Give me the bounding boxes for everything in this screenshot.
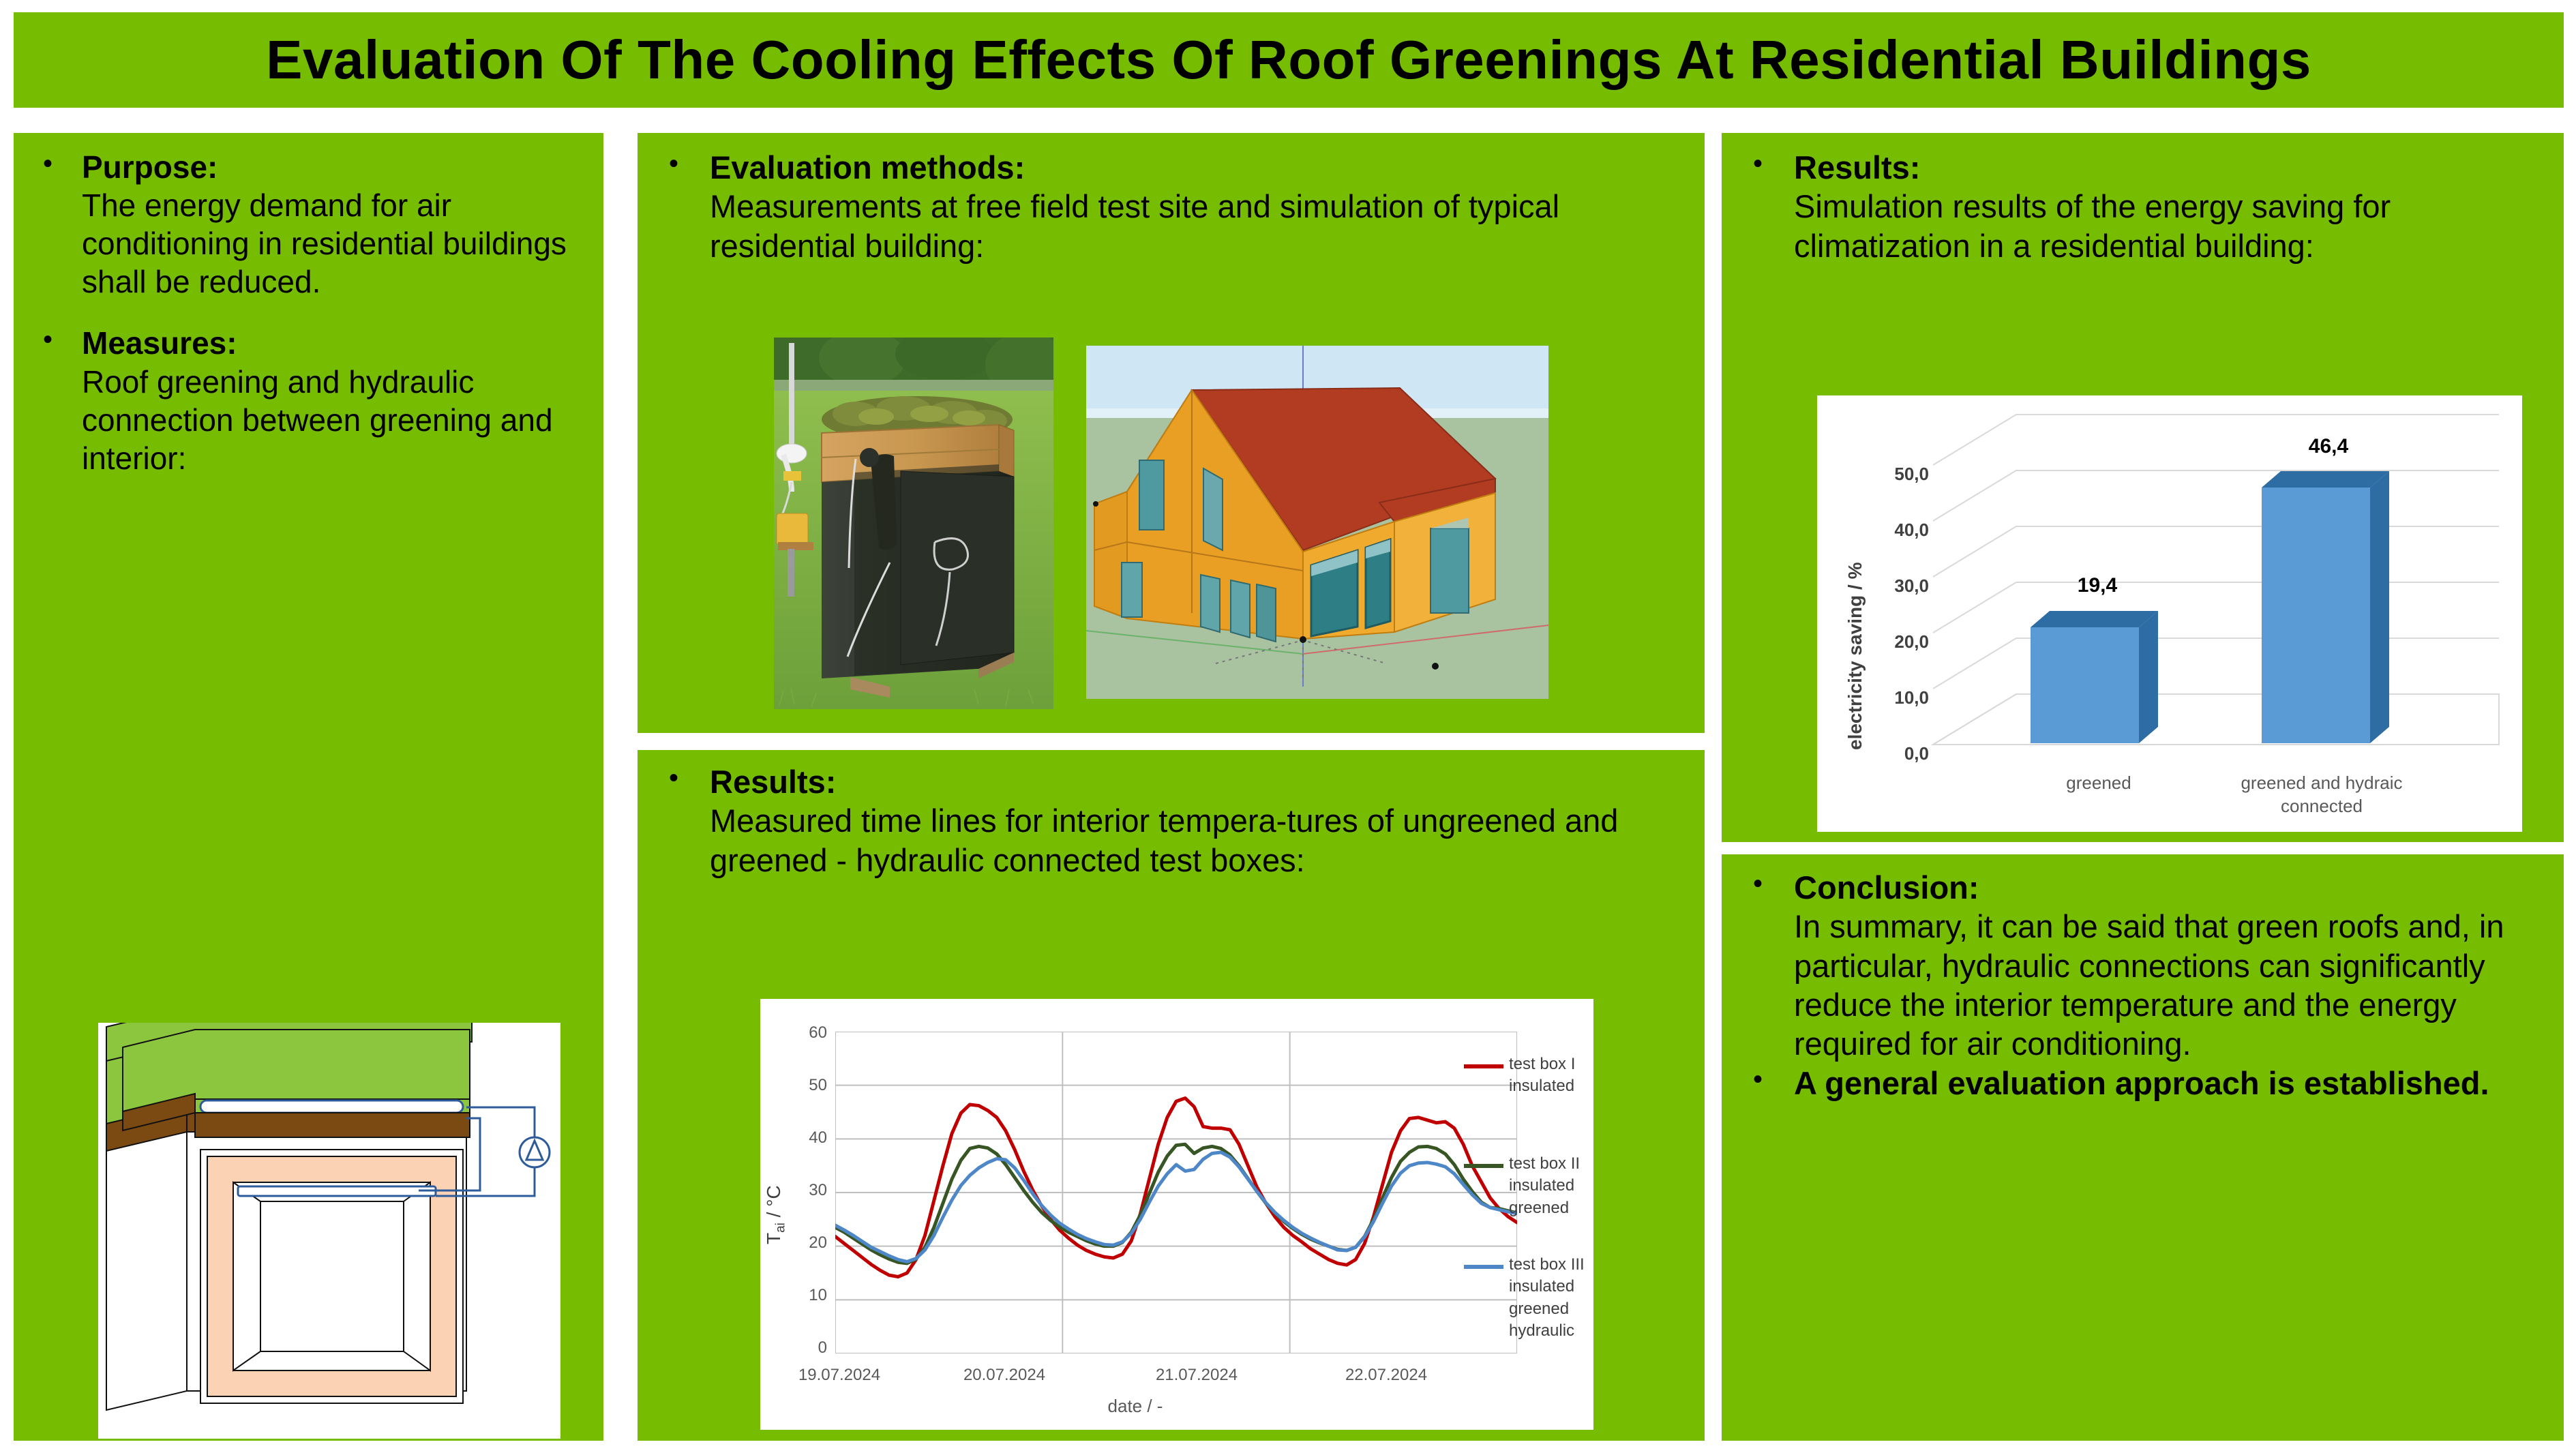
results-simulation-heading: Results:	[1794, 148, 2564, 187]
line-chart-xtick: 20.07.2024	[950, 1366, 1059, 1385]
evaluation-methods-heading: Evaluation methods:	[710, 148, 1705, 187]
electricity-saving-bar-chart: electricity saving / % 50,0	[1817, 395, 2522, 832]
poster-title-banner: Evaluation Of The Cooling Effects Of Roo…	[14, 12, 2564, 108]
bullet-results-measured: • Results: Measured time lines for inter…	[638, 762, 1705, 880]
line-chart-plot-area	[835, 1032, 1517, 1353]
middle-bottom-panel: • Results: Measured time lines for inter…	[638, 750, 1705, 1441]
roof-diagram-frame	[98, 1023, 560, 1439]
legend-swatch-series-2	[1464, 1164, 1503, 1168]
bullet-measures: • Measures: Roof greening and hydraulic …	[14, 324, 603, 477]
measures-text: Roof greening and hydraulic connection b…	[82, 363, 603, 477]
right-conclusion-panel: • Conclusion: In summary, it can be said…	[1722, 854, 2564, 1441]
bar-chart-ytick: 20,0	[1868, 631, 1929, 653]
results-measured-text: Measured time lines for interior tempera…	[710, 801, 1705, 880]
conclusion-text: In summary, it can be said that green ro…	[1794, 907, 2564, 1063]
bar-chart-ytick: 50,0	[1868, 464, 1929, 485]
middle-top-panel: • Evaluation methods: Measurements at fr…	[638, 133, 1705, 733]
bar-chart-ytick: 40,0	[1868, 520, 1929, 541]
bullet-dot-icon: •	[1722, 1064, 1794, 1096]
line-chart-ytick: 50	[793, 1076, 827, 1095]
line-chart-xtick: 19.07.2024	[785, 1366, 894, 1385]
legend-label-series-2: test box II insulated greened	[1509, 1153, 1580, 1219]
legend-swatch-series-1	[1464, 1064, 1503, 1068]
line-chart-ytick: 0	[793, 1338, 827, 1358]
bar-category-label-greened-hydraic: greened and hydraic connected	[2216, 772, 2427, 818]
line-chart-y-axis-title: Tai / °C	[763, 1185, 789, 1244]
bar-category-label-greened: greened	[2000, 772, 2198, 795]
line-chart-ytick: 60	[793, 1023, 827, 1043]
bullet-dot-icon: •	[638, 148, 710, 180]
left-column-panel: • Purpose: The energy demand for air con…	[14, 133, 603, 1441]
legend-label-series-1: test box I insulated	[1509, 1053, 1575, 1098]
bullet-dot-icon: •	[1722, 868, 1794, 900]
green-roof-section-diagram	[98, 1023, 560, 1439]
page-title: Evaluation Of The Cooling Effects Of Roo…	[266, 29, 2311, 91]
bar-chart-ytick: 10,0	[1868, 687, 1929, 708]
line-chart-xtick: 21.07.2024	[1142, 1366, 1251, 1385]
evaluation-methods-bullets: • Evaluation methods: Measurements at fr…	[638, 148, 1705, 265]
bullet-purpose: • Purpose: The energy demand for air con…	[14, 148, 603, 301]
temperature-line-chart: 60 50 40 30 20 10 0 Tai / °C 19.07.2024 …	[760, 999, 1593, 1430]
evaluation-methods-text: Measurements at free field test site and…	[710, 187, 1705, 265]
general-approach-heading: A general evaluation approach is establi…	[1794, 1064, 2564, 1103]
line-chart-ytick: 30	[793, 1181, 827, 1200]
free-field-test-box-photo	[774, 338, 1053, 709]
line-chart-ytick: 20	[793, 1233, 827, 1253]
results-simulation-bullets: • Results: Simulation results of the ene…	[1722, 148, 2564, 265]
right-results-panel: • Results: Simulation results of the ene…	[1722, 133, 2564, 842]
purpose-text: The energy demand for air conditioning i…	[82, 186, 603, 301]
conclusion-heading: Conclusion:	[1794, 868, 2564, 907]
bullet-spacer	[14, 301, 603, 324]
results-simulation-text: Simulation results of the energy saving …	[1794, 187, 2564, 265]
line-chart-x-axis-title: date / -	[1033, 1396, 1238, 1417]
results-measured-heading: Results:	[710, 762, 1705, 801]
bullet-dot-icon: •	[14, 148, 82, 180]
bar-value-label-greened: 19,4	[2039, 574, 2155, 597]
bullet-evaluation-methods: • Evaluation methods: Measurements at fr…	[638, 148, 1705, 265]
bullet-results-simulation: • Results: Simulation results of the ene…	[1722, 148, 2564, 265]
bullet-dot-icon: •	[14, 324, 82, 356]
bullet-dot-icon: •	[1722, 148, 1794, 180]
measures-heading: Measures:	[82, 324, 603, 362]
bullet-conclusion: • Conclusion: In summary, it can be said…	[1722, 868, 2564, 1064]
legend-label-series-3: test box III insulated greened hydraulic	[1509, 1254, 1585, 1343]
bar-value-label-greened-hydraic: 46,4	[2271, 435, 2386, 458]
conclusion-bullets: • Conclusion: In summary, it can be said…	[1722, 868, 2564, 1103]
line-chart-xtick: 22.07.2024	[1332, 1366, 1441, 1385]
bullet-general-approach: • A general evaluation approach is estab…	[1722, 1064, 2564, 1103]
line-chart-ytick: 10	[793, 1286, 827, 1305]
left-bullets: • Purpose: The energy demand for air con…	[14, 148, 603, 477]
results-measured-bullets: • Results: Measured time lines for inter…	[638, 762, 1705, 880]
line-chart-ytick: 40	[793, 1128, 827, 1148]
bar-chart-ytick: 30,0	[1868, 575, 1929, 597]
bar-chart-plot-area	[1817, 395, 2522, 832]
sketchup-residential-building-model	[1086, 346, 1548, 699]
bar-chart-ytick: 0,0	[1868, 743, 1929, 764]
bullet-dot-icon: •	[638, 762, 710, 794]
purpose-heading: Purpose:	[82, 148, 603, 186]
legend-swatch-series-3	[1464, 1265, 1503, 1269]
